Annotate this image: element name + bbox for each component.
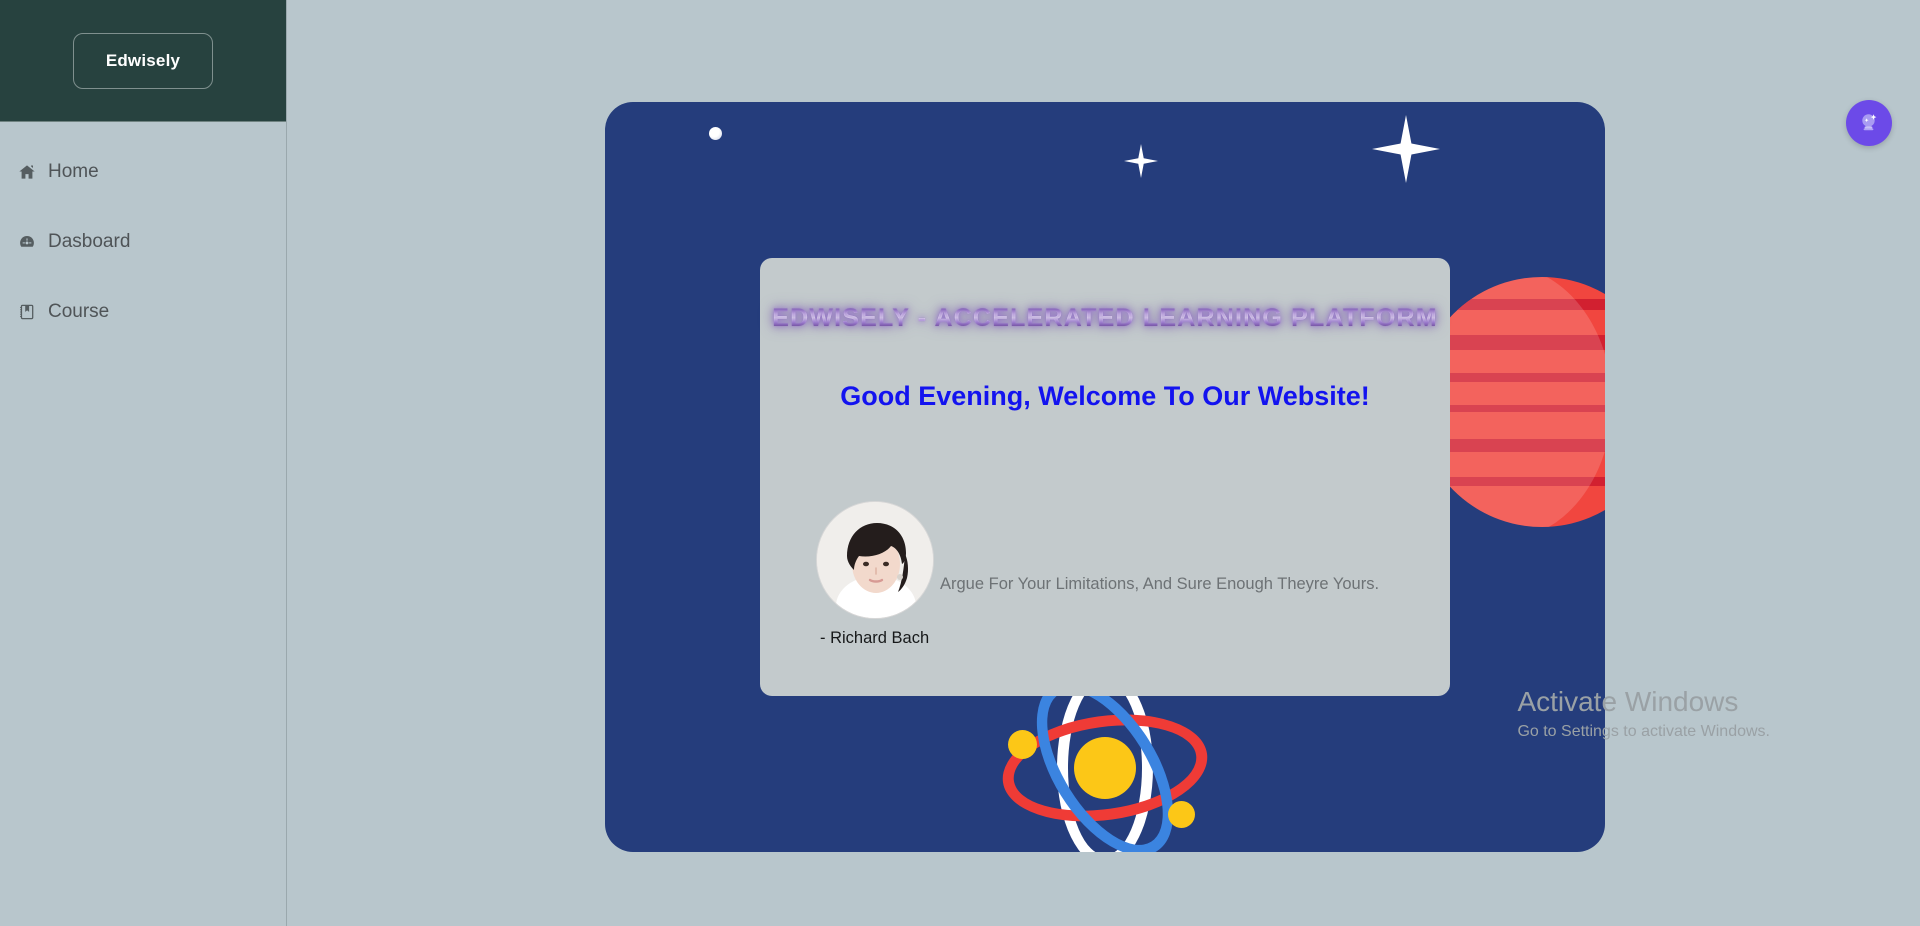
greeting-text: Good Evening, Welcome To Our Website!	[840, 381, 1370, 412]
sidebar-item-label: Dasboard	[48, 231, 130, 253]
sparkle-star-large-icon	[1372, 115, 1440, 183]
sidebar-header: Edwisely	[0, 0, 286, 122]
app-root: Edwisely Home	[0, 0, 1920, 926]
sidebar-nav: Home Dasboard	[0, 122, 286, 335]
book-icon	[18, 303, 36, 321]
sparkle-star-small-icon	[1124, 144, 1158, 178]
sidebar-item-course[interactable]: Course	[0, 289, 286, 335]
page-title: EDWISELY - ACCELERATED LEARNING PLATFORM	[762, 300, 1448, 337]
assistant-fab-button[interactable]	[1846, 100, 1892, 146]
quote-text: Argue For Your Limitations, And Sure Eno…	[940, 575, 1379, 594]
dashboard-icon	[18, 233, 36, 251]
sidebar-item-dasboard[interactable]: Dasboard	[0, 219, 286, 265]
sidebar-item-label: Home	[48, 161, 99, 183]
crystal-ball-icon	[1857, 110, 1881, 137]
brand-logo-button[interactable]: Edwisely	[73, 33, 213, 89]
sidebar-item-label: Course	[48, 301, 109, 323]
quote-block: Argue For Your Limitations, And Sure Eno…	[816, 501, 1416, 651]
quote-author: - Richard Bach	[820, 629, 929, 648]
main-content: EDWISELY - ACCELERATED LEARNING PLATFORM…	[287, 0, 1920, 926]
home-icon	[18, 163, 36, 181]
avatar	[816, 501, 934, 619]
hero-space-card: EDWISELY - ACCELERATED LEARNING PLATFORM…	[605, 102, 1605, 852]
sidebar-item-home[interactable]: Home	[0, 149, 286, 195]
small-dot-star-icon	[709, 127, 722, 140]
sidebar: Edwisely Home	[0, 0, 287, 926]
welcome-panel: EDWISELY - ACCELERATED LEARNING PLATFORM…	[760, 258, 1450, 696]
